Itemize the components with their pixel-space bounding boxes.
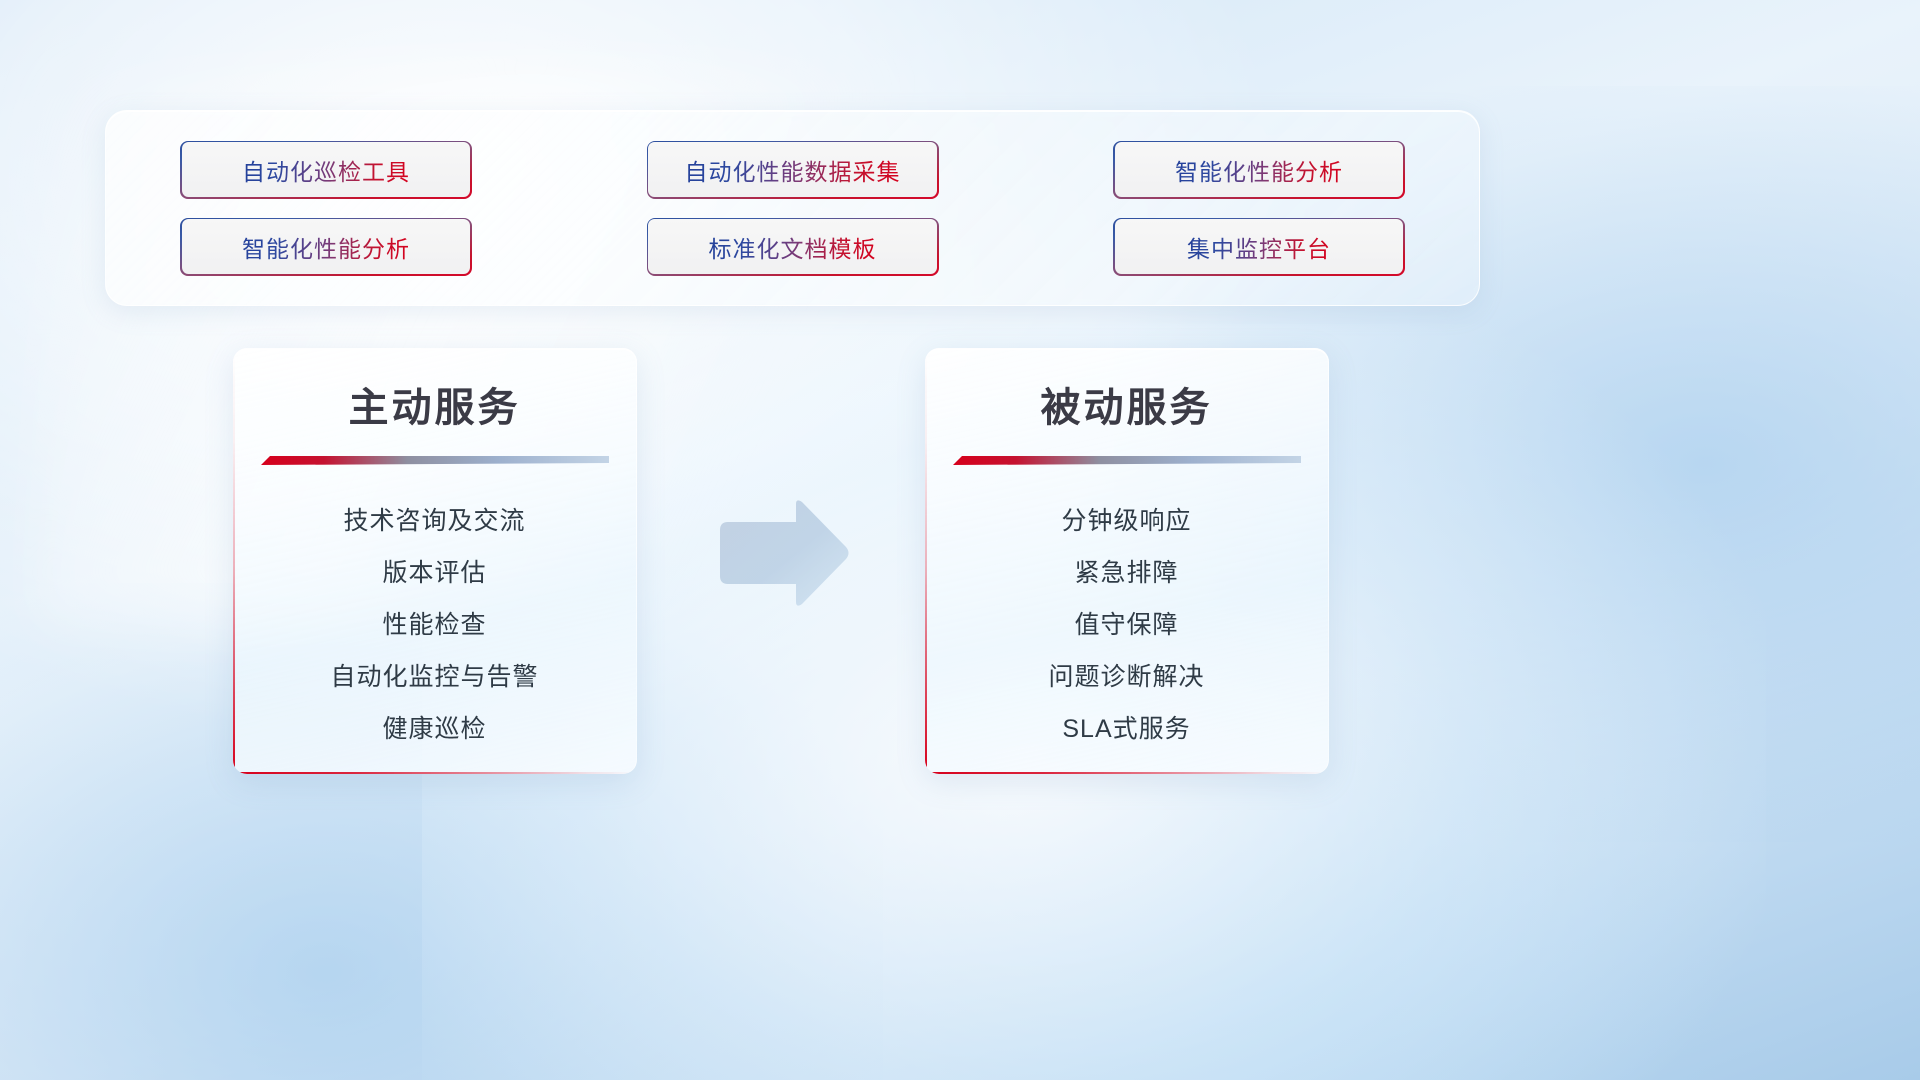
list-item: SLA式服务	[925, 703, 1328, 755]
list-item: 版本评估	[233, 547, 636, 599]
service-card-reactive: 被动服务 分钟级响应 紧急排障 值守保障 问题诊断解决 SLA式服务	[925, 348, 1329, 774]
capability-chip-intelligent-performance-analysis-2[interactable]: 智能化性能分析	[180, 218, 472, 276]
capability-chip-label: 自动化巡检工具	[242, 153, 410, 187]
list-item: 问题诊断解决	[925, 651, 1328, 703]
capability-chip-label: 标准化文档模板	[709, 230, 877, 264]
card-divider-proactive	[261, 456, 609, 465]
card-accent-bottom-border	[925, 772, 1328, 774]
right-arrow-icon	[718, 500, 850, 606]
list-item: 自动化监控与告警	[233, 651, 636, 703]
list-item: 紧急排障	[925, 547, 1328, 599]
list-item: 值守保障	[925, 599, 1328, 651]
capability-chip-automated-inspection-tool[interactable]: 自动化巡检工具	[180, 141, 472, 199]
capability-panel: 自动化巡检工具 自动化性能数据采集 智能化性能分析 智能化性能分析 标准化文档模…	[105, 110, 1480, 306]
capability-chip-label: 智能化性能分析	[1175, 153, 1343, 187]
capability-chip-centralized-monitoring-platform[interactable]: 集中监控平台	[1113, 218, 1405, 276]
card-accent-bottom-border	[233, 772, 636, 774]
capability-chip-label: 集中监控平台	[1187, 230, 1331, 264]
service-card-proactive: 主动服务 技术咨询及交流 版本评估 性能检查 自动化监控与告警 健康巡检	[233, 348, 637, 774]
list-item: 技术咨询及交流	[233, 495, 636, 547]
slide-canvas: 自动化巡检工具 自动化性能数据采集 智能化性能分析 智能化性能分析 标准化文档模…	[0, 0, 1920, 1080]
card-title-proactive: 主动服务	[233, 349, 636, 433]
capability-chip-automated-performance-data-collection[interactable]: 自动化性能数据采集	[647, 141, 939, 199]
card-divider-reactive	[953, 456, 1301, 465]
card-accent-left-border	[925, 349, 927, 774]
capability-row-1: 自动化巡检工具 自动化性能数据采集 智能化性能分析	[180, 141, 1405, 199]
capability-chip-standardized-document-template[interactable]: 标准化文档模板	[647, 218, 939, 276]
list-item: 健康巡检	[233, 703, 636, 755]
capability-chip-label: 智能化性能分析	[242, 230, 410, 264]
service-list-reactive: 分钟级响应 紧急排障 值守保障 问题诊断解决 SLA式服务	[925, 465, 1328, 755]
capability-chip-label: 自动化性能数据采集	[685, 153, 901, 187]
capability-chip-intelligent-performance-analysis-1[interactable]: 智能化性能分析	[1113, 141, 1405, 199]
card-accent-left-border	[233, 349, 235, 774]
card-title-reactive: 被动服务	[925, 349, 1328, 433]
capability-row-2: 智能化性能分析 标准化文档模板 集中监控平台	[180, 218, 1405, 276]
service-list-proactive: 技术咨询及交流 版本评估 性能检查 自动化监控与告警 健康巡检	[233, 465, 636, 755]
list-item: 分钟级响应	[925, 495, 1328, 547]
list-item: 性能检查	[233, 599, 636, 651]
